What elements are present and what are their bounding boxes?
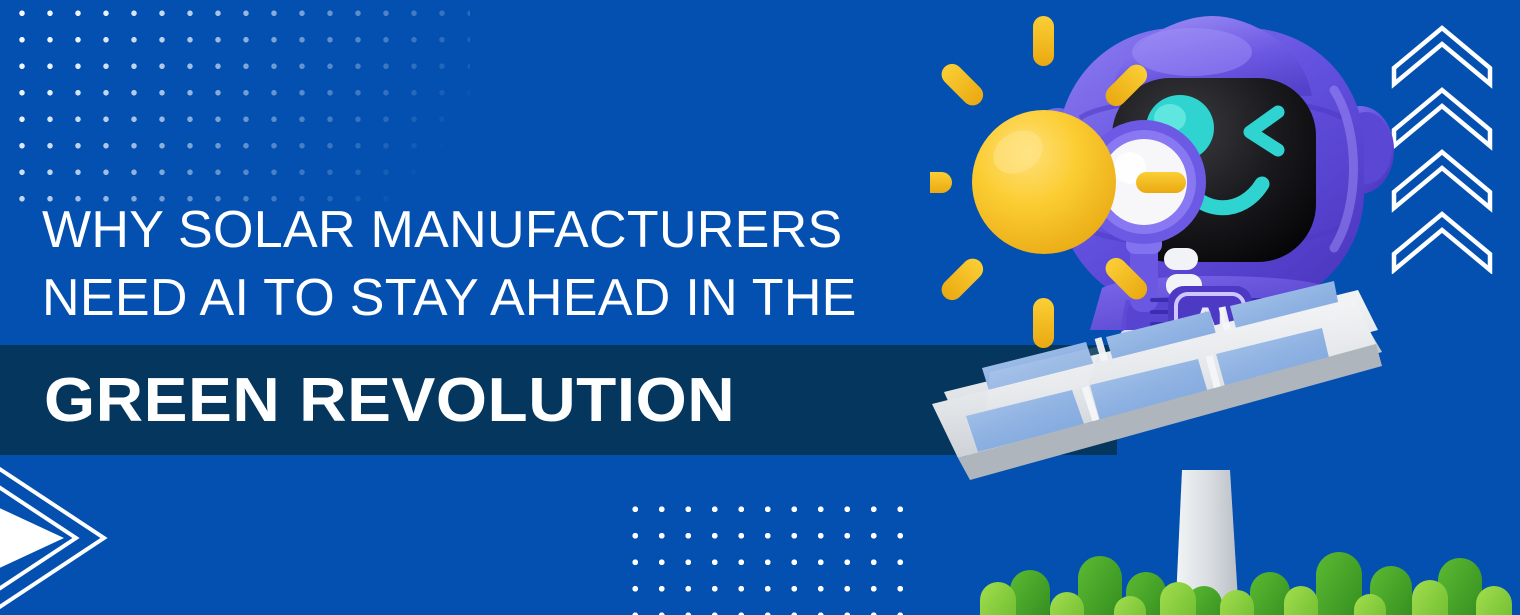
- headline-emphasis: GREEN REVOLUTION: [44, 356, 735, 446]
- headline-line-1: WHY SOLAR MANUFACTURERS: [42, 196, 942, 264]
- triangle-right-stack-icon: [0, 450, 126, 615]
- dot-grid-top-left-icon: [0, 0, 470, 216]
- grass-illustration: [980, 552, 1512, 615]
- dot-grid-bottom-center-icon: [618, 492, 908, 615]
- banner: WHY SOLAR MANUFACTURERS NEED AI TO STAY …: [0, 0, 1520, 615]
- headline-line-2: NEED AI TO STAY AHEAD IN THE: [42, 264, 942, 332]
- illustration-group: AI: [930, 0, 1520, 615]
- solar-panel-illustration: [932, 281, 1382, 600]
- page-title: WHY SOLAR MANUFACTURERS NEED AI TO STAY …: [42, 196, 942, 332]
